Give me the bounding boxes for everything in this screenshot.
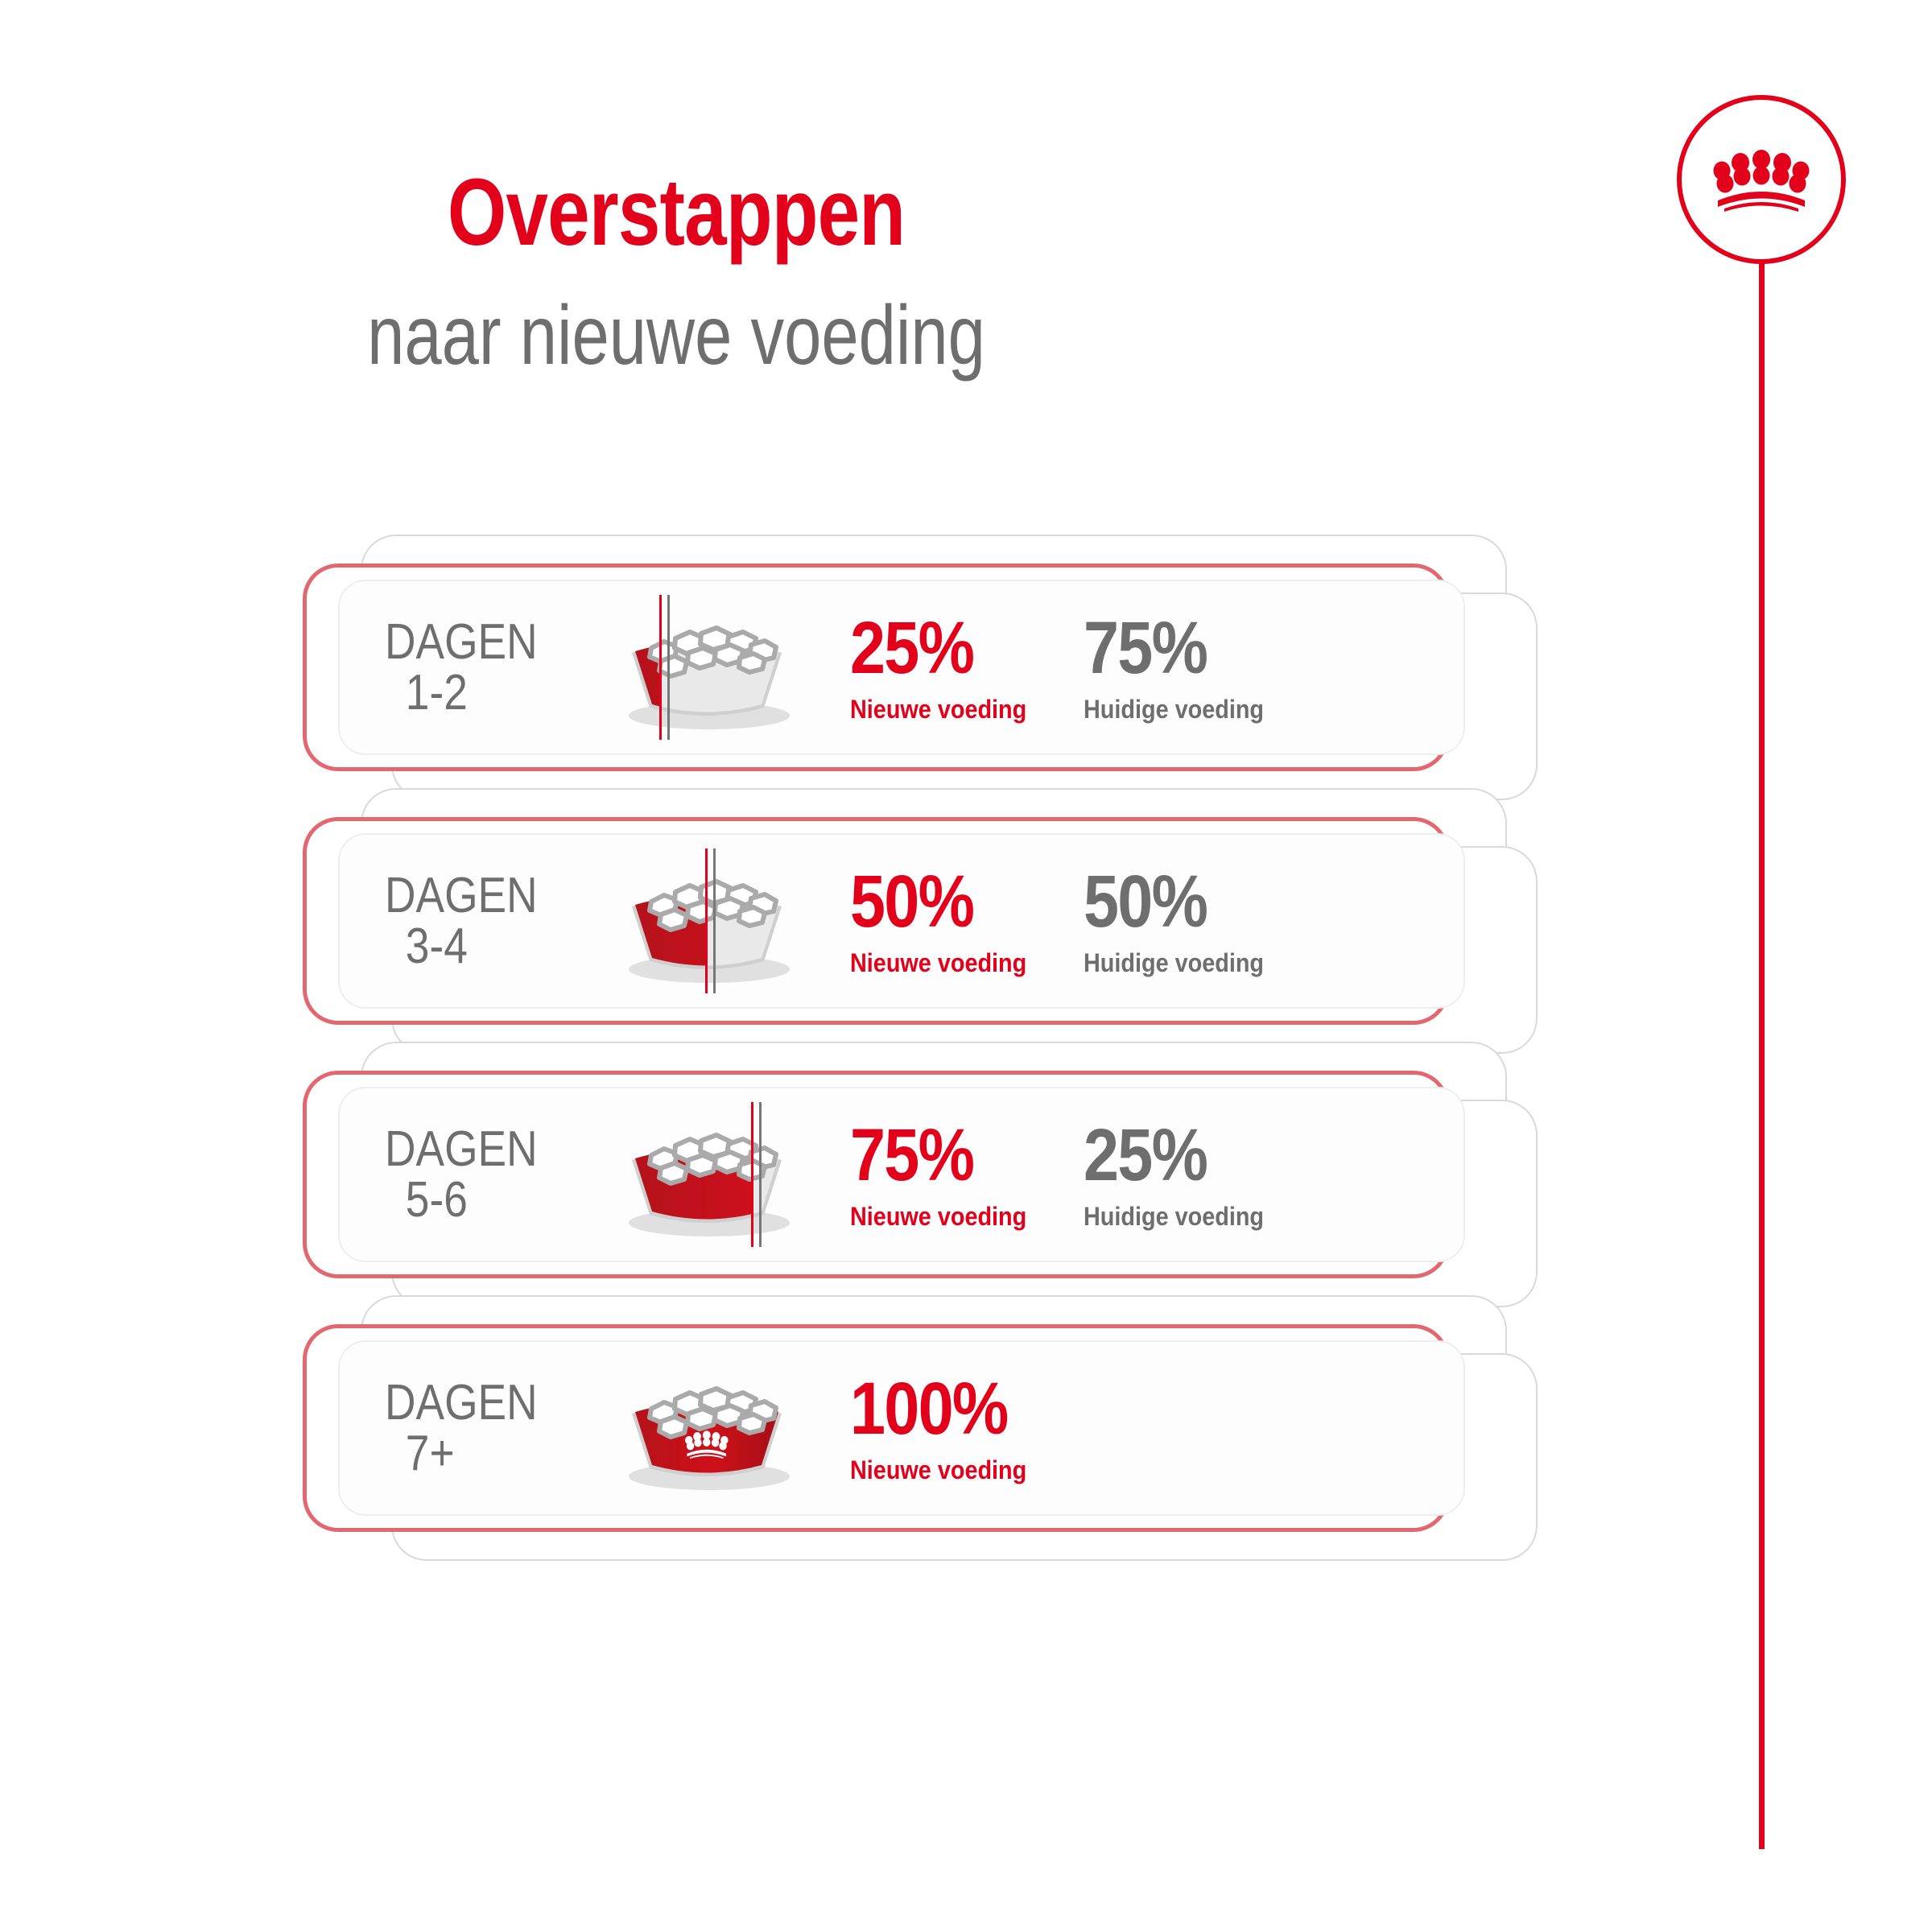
- logo-stem-line: [1759, 259, 1765, 1849]
- new-food-label: Nieuwe voeding: [850, 1455, 1089, 1485]
- card-content-panel: DAGEN 7+: [338, 1340, 1465, 1516]
- new-food-percent: 100%: [850, 1372, 1079, 1446]
- stats-group: 50% Nieuwe voeding 50% Huidige voeding: [828, 865, 1463, 978]
- dog-bowl-icon: [614, 848, 799, 993]
- new-food-percent: 75%: [850, 1118, 1051, 1192]
- days-label: DAGEN 3-4: [385, 870, 586, 972]
- current-food-stat: 50% Huidige voeding: [1084, 865, 1349, 978]
- bowl-illustration: [586, 833, 828, 1009]
- days-word: DAGEN: [385, 1124, 558, 1174]
- new-food-stat: 25% Nieuwe voeding: [850, 611, 1084, 724]
- new-food-stat: 75% Nieuwe voeding: [850, 1118, 1084, 1232]
- card-content-panel: DAGEN 3-4: [338, 833, 1465, 1009]
- days-label: DAGEN 5-6: [385, 1124, 586, 1225]
- stats-group: 100% Nieuwe voeding: [828, 1372, 1463, 1485]
- current-food-percent: 50%: [1084, 865, 1312, 939]
- current-food-percent: 75%: [1084, 611, 1312, 685]
- current-food-label: Huidige voeding: [1084, 695, 1323, 724]
- stats-group: 25% Nieuwe voeding 75% Huidige voeding: [828, 611, 1463, 724]
- new-food-label: Nieuwe voeding: [850, 1202, 1060, 1232]
- page-subtitle: naar nieuwe voeding: [135, 294, 1217, 378]
- days-number: 7+: [385, 1428, 558, 1479]
- dog-bowl-crown-icon: [614, 1356, 799, 1501]
- dog-bowl-icon: [614, 1102, 799, 1247]
- schedule-row: DAGEN 5-6: [303, 1071, 1558, 1278]
- schedule-row: DAGEN 3-4: [303, 817, 1558, 1025]
- bowl-illustration: [586, 1087, 828, 1262]
- current-food-stat: 75% Huidige voeding: [1084, 611, 1349, 724]
- page-heading: Overstappen naar nieuwe voeding: [0, 165, 1352, 378]
- bowl-illustration: [586, 1340, 828, 1516]
- new-food-label: Nieuwe voeding: [850, 948, 1060, 978]
- new-food-stat: 50% Nieuwe voeding: [850, 865, 1084, 978]
- current-food-stat: 25% Huidige voeding: [1084, 1118, 1349, 1232]
- schedule-row: DAGEN 7+: [303, 1324, 1558, 1532]
- royal-canin-crown-icon: [1710, 147, 1813, 212]
- dog-bowl-icon: [614, 595, 799, 740]
- days-word: DAGEN: [385, 1377, 558, 1428]
- new-food-percent: 50%: [850, 865, 1051, 939]
- schedule-row: DAGEN 1-2: [303, 563, 1558, 771]
- days-label: DAGEN 7+: [385, 1377, 586, 1479]
- days-label: DAGEN 1-2: [385, 617, 586, 718]
- current-food-percent: 25%: [1084, 1118, 1312, 1192]
- card-content-panel: DAGEN 5-6: [338, 1087, 1465, 1262]
- transition-schedule-list: DAGEN 1-2: [303, 563, 1558, 1532]
- new-food-percent: 25%: [850, 611, 1051, 685]
- card-content-panel: DAGEN 1-2: [338, 580, 1465, 755]
- current-food-label: Huidige voeding: [1084, 1202, 1323, 1232]
- new-food-stat: 100% Nieuwe voeding: [850, 1372, 1116, 1485]
- current-food-label: Huidige voeding: [1084, 948, 1323, 978]
- days-number: 3-4: [385, 921, 558, 972]
- days-word: DAGEN: [385, 870, 558, 921]
- bowl-illustration: [586, 580, 828, 755]
- days-word: DAGEN: [385, 617, 558, 667]
- days-number: 5-6: [385, 1174, 558, 1225]
- stats-group: 75% Nieuwe voeding 25% Huidige voeding: [828, 1118, 1463, 1232]
- new-food-label: Nieuwe voeding: [850, 695, 1060, 724]
- days-number: 1-2: [385, 667, 558, 718]
- royal-canin-logo: [1677, 95, 1846, 264]
- page-title: Overstappen: [135, 165, 1217, 260]
